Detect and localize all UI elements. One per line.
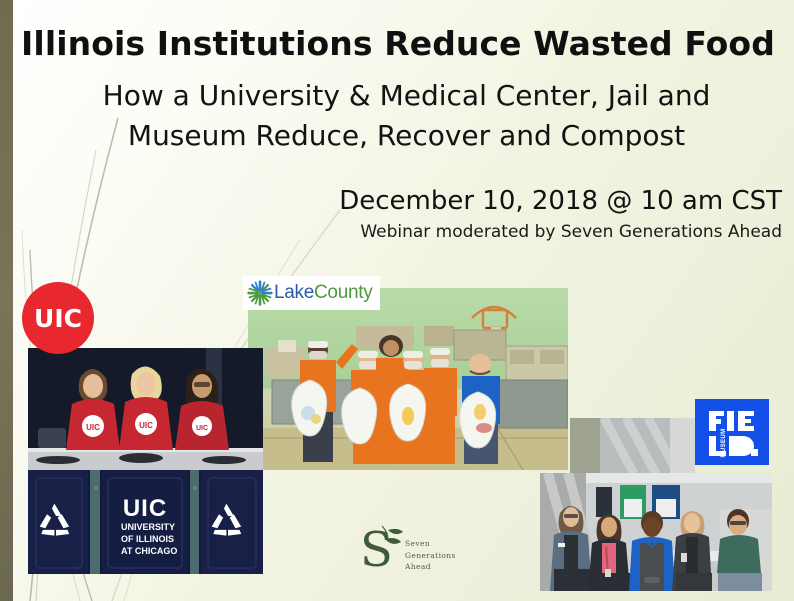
sga-word-2: Generations bbox=[405, 550, 456, 562]
svg-text:AT CHICAGO: AT CHICAGO bbox=[121, 546, 177, 556]
photo-uic-students: UIC UIC UIC bbox=[28, 348, 263, 470]
sga-monogram-icon: S bbox=[358, 520, 410, 578]
sga-word-1: Seven bbox=[405, 538, 456, 550]
photo-uic-recycling-bins: UIC UNIVERSITY OF ILLINOIS AT CHICAGO bbox=[28, 470, 263, 574]
webinar-date: December 10, 2018 @ 10 am CST bbox=[222, 186, 782, 216]
jail-kitchen-image bbox=[248, 288, 568, 470]
lake-county-word-county: County bbox=[314, 282, 372, 303]
uic-bins-image: UIC UNIVERSITY OF ILLINOIS AT CHICAGO bbox=[28, 470, 263, 574]
slide-canvas: Illinois Institutions Reduce Wasted Food… bbox=[0, 0, 794, 601]
svg-text:UNIVERSITY: UNIVERSITY bbox=[121, 522, 175, 532]
lake-county-logo: LakeCounty bbox=[243, 276, 380, 310]
subtitle-line-1: How a University & Medical Center, Jail … bbox=[30, 76, 783, 116]
uic-logo-text: UIC bbox=[34, 304, 82, 333]
svg-text:OF ILLINOIS: OF ILLINOIS bbox=[121, 534, 174, 544]
uic-students-image: UIC UIC UIC bbox=[28, 348, 263, 470]
left-edge-bar bbox=[0, 0, 13, 601]
svg-text:UIC: UIC bbox=[139, 421, 153, 430]
photo-jail-kitchen bbox=[248, 288, 568, 470]
uic-circle-logo: UIC bbox=[22, 282, 94, 354]
photo-field-museum-wall bbox=[570, 418, 695, 474]
field-museum-vertical-word: MUSEUM bbox=[721, 428, 727, 457]
lake-county-wordmark: LakeCounty bbox=[274, 282, 372, 304]
sga-wordmark: Seven Generations Ahead bbox=[405, 538, 456, 573]
field-wall-image bbox=[570, 418, 695, 474]
lake-county-word-lake: Lake bbox=[274, 282, 314, 303]
field-museum-logo-mark: MUSEUM bbox=[695, 399, 769, 465]
svg-text:UIC: UIC bbox=[123, 495, 167, 522]
slide-title: Illinois Institutions Reduce Wasted Food bbox=[13, 26, 783, 63]
svg-text:UIC: UIC bbox=[86, 423, 100, 432]
photo-field-museum-staff bbox=[540, 473, 772, 591]
field-group-image bbox=[540, 473, 772, 591]
field-museum-logo: MUSEUM bbox=[695, 399, 769, 465]
sga-word-3: Ahead bbox=[405, 561, 456, 573]
webinar-moderator: Webinar moderated by Seven Generations A… bbox=[222, 222, 782, 242]
slide-subtitle: How a University & Medical Center, Jail … bbox=[30, 76, 783, 156]
seven-generations-ahead-logo: S Seven Generations Ahead bbox=[358, 520, 478, 582]
svg-text:UIC: UIC bbox=[196, 425, 208, 432]
lake-county-starburst-icon bbox=[246, 279, 274, 307]
subtitle-line-2: Museum Reduce, Recover and Compost bbox=[30, 116, 783, 156]
sga-letter-s: S bbox=[360, 522, 393, 578]
